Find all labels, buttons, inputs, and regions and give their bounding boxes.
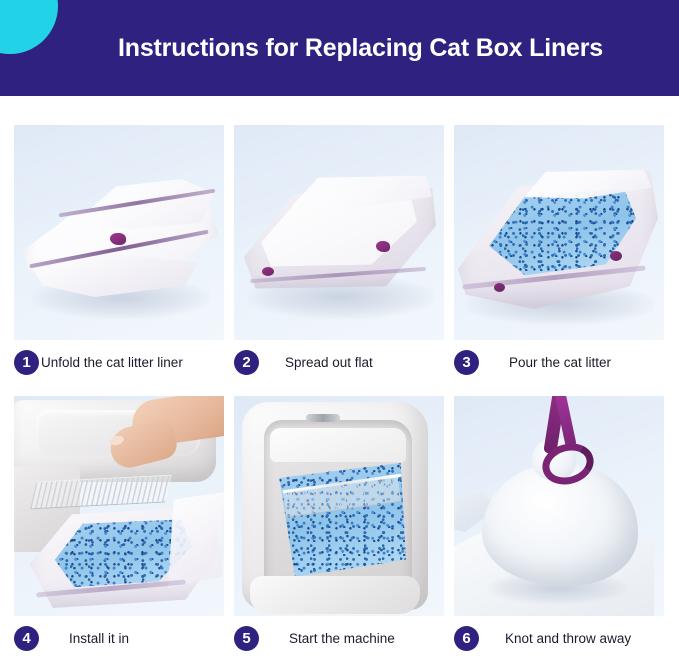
step-photo-1 (14, 125, 224, 340)
step-photo-3 (454, 125, 664, 340)
step-caption-2: 2 Spread out flat (234, 340, 444, 381)
step-photo-4 (14, 396, 224, 616)
step-label-5: Start the machine (289, 631, 395, 646)
step-label-1: Unfold the cat litter liner (41, 355, 183, 370)
step-caption-3: 3 Pour the cat litter (454, 340, 664, 381)
step-label-4: Install it in (69, 631, 129, 646)
step-badge-5: 5 (234, 626, 259, 651)
steps-row-1: 1 Unfold the cat litter liner 2 S (14, 125, 665, 381)
steps-row-2: 4 Install it in (14, 396, 665, 657)
step-badge-1: 1 (14, 350, 39, 375)
step-caption-4: 4 Install it in (14, 616, 224, 657)
step-card-1: 1 Unfold the cat litter liner (14, 125, 224, 381)
step-label-2: Spread out flat (285, 355, 373, 370)
step-badge-3: 3 (454, 350, 479, 375)
page-header: Instructions for Replacing Cat Box Liner… (0, 0, 679, 96)
step-caption-1: 1 Unfold the cat litter liner (14, 340, 224, 381)
step-label-6: Knot and throw away (505, 631, 631, 646)
step-photo-6 (454, 396, 664, 616)
step-photo-5 (234, 396, 444, 616)
step-label-3: Pour the cat litter (509, 355, 611, 370)
step-photo-2 (234, 125, 444, 340)
step-card-3: 3 Pour the cat litter (454, 125, 664, 381)
step-caption-5: 5 Start the machine (234, 616, 444, 657)
step-card-2: 2 Spread out flat (234, 125, 444, 381)
step-card-5: 5 Start the machine (234, 396, 444, 657)
step-badge-4: 4 (14, 626, 39, 651)
step-card-6: 6 Knot and throw away (454, 396, 664, 657)
steps-grid: 1 Unfold the cat litter liner 2 S (14, 125, 665, 657)
step-card-4: 4 Install it in (14, 396, 224, 657)
step-badge-2: 2 (234, 350, 259, 375)
page-title: Instructions for Replacing Cat Box Liner… (60, 0, 661, 96)
accent-circle-decoration (0, 0, 58, 54)
step-badge-6: 6 (454, 626, 479, 651)
step-caption-6: 6 Knot and throw away (454, 616, 664, 657)
